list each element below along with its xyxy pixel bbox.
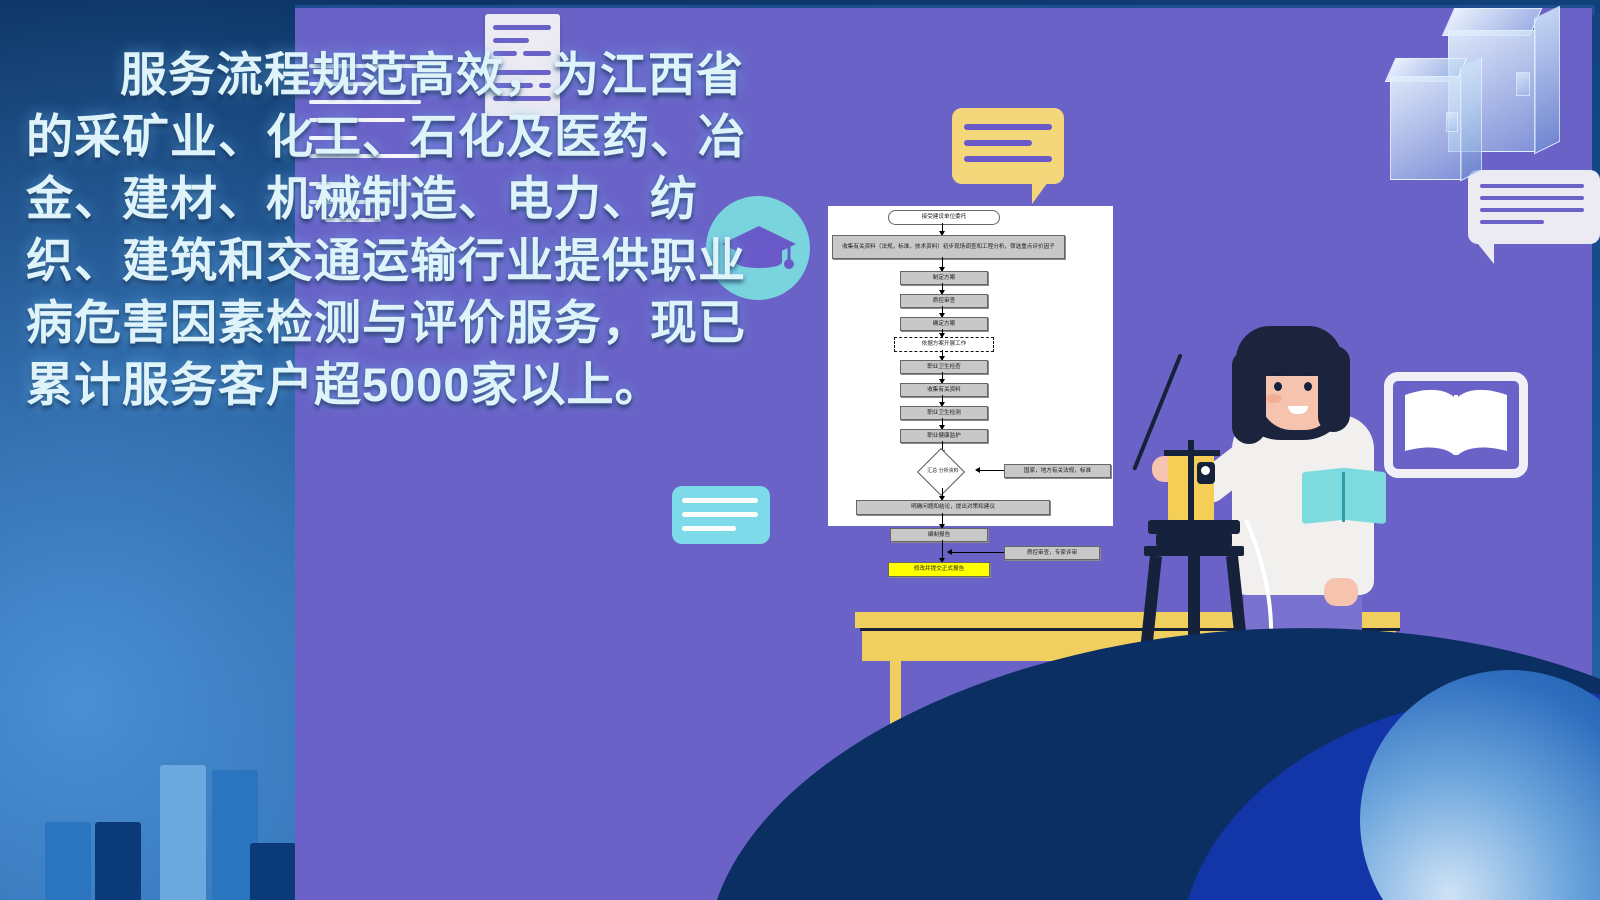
- open-book-frame: [1384, 372, 1528, 478]
- chart-bar: [95, 822, 141, 900]
- person-eyebrow-right: [1300, 372, 1316, 375]
- white-bubble-tail: [1478, 244, 1494, 264]
- page-headline: 服务流程规范高效，为江西省 的采矿业、化工、石化及医药、冶 金、建材、机械制造、…: [26, 44, 786, 416]
- chart-bar: [250, 843, 296, 900]
- person-eyebrow-left: [1270, 372, 1286, 375]
- headline-line-1: 服务流程规范高效，为江西省: [26, 44, 786, 106]
- chart-bar: [160, 765, 206, 900]
- headline-line-5: 病危害因素检测与评价服务，现已: [26, 292, 786, 354]
- flow-node-n11-label: 汇总 分析资料: [912, 454, 974, 488]
- yellow-speech-bubble: [952, 108, 1064, 184]
- flow-node-n2: 收集有关资料（法规，标准，技术资料）初步现场调查和工程分析，筛选重点评价因子: [832, 235, 1065, 259]
- flow-node-n3: 制定方案: [900, 271, 988, 285]
- headline-line-6: 累计服务客户超5000家以上。: [26, 354, 786, 416]
- yellow-bubble-tail: [1032, 182, 1048, 204]
- headline-line-4: 织、建筑和交通运输行业提供职业: [26, 230, 786, 292]
- person-book-left-page: [1302, 468, 1344, 524]
- person-hair-side-left: [1232, 350, 1266, 444]
- book-3d-small: [1390, 58, 1490, 198]
- instrument-display-dot: [1201, 466, 1210, 475]
- cyan-info-card: [672, 486, 770, 544]
- person-book-right-page: [1344, 468, 1386, 524]
- process-flowchart: 接受建设单位委托 收集有关资料（法规，标准，技术资料）初步现场调查和工程分析，筛…: [828, 206, 1113, 526]
- flow-node-n14: 修改并提交正式报告: [888, 562, 990, 577]
- flow-node-n5: 确定方案: [900, 317, 988, 331]
- person-eye-right: [1304, 382, 1312, 391]
- headline-line-2: 的采矿业、化工、石化及医药、冶: [26, 106, 786, 168]
- person-eye-left: [1274, 382, 1282, 391]
- flow-node-n13: 编制报告: [890, 528, 988, 542]
- flow-side-node-s1: 国家，地方有关法规，标准: [1004, 464, 1111, 478]
- poster-canvas: 接受建设单位委托 收集有关资料（法规，标准，技术资料）初步现场调查和工程分析，筛…: [0, 0, 1600, 900]
- flow-side-node-s2: 质控审查，专家评审: [1004, 546, 1100, 560]
- person-book-spine: [1342, 472, 1345, 522]
- flow-node-n11: 汇总 分析资料: [912, 454, 974, 488]
- flow-node-n9: 职业卫生检测: [900, 406, 988, 420]
- flow-node-n10: 职业健康监护: [900, 429, 988, 443]
- headline-line-3: 金、建材、机械制造、电力、纺: [26, 168, 786, 230]
- flow-node-n6: 依据方案开展工作: [894, 337, 994, 352]
- flow-node-n7: 职业卫生检查: [900, 360, 988, 374]
- open-book-icon: [1399, 385, 1513, 465]
- person-hand-lower: [1324, 578, 1358, 606]
- chart-bar: [45, 822, 91, 900]
- person-cheek: [1266, 394, 1282, 403]
- flow-node-n4: 质控审查: [900, 294, 988, 308]
- person-hair-side-right: [1318, 346, 1350, 432]
- flow-node-n8: 收集有关资料: [900, 383, 988, 397]
- flow-node-n12: 明确问题和结论，提出对策和建议: [856, 500, 1050, 515]
- instrument-crossbar-top: [1164, 450, 1220, 456]
- flow-node-n1: 接受建设单位委托: [888, 210, 1000, 225]
